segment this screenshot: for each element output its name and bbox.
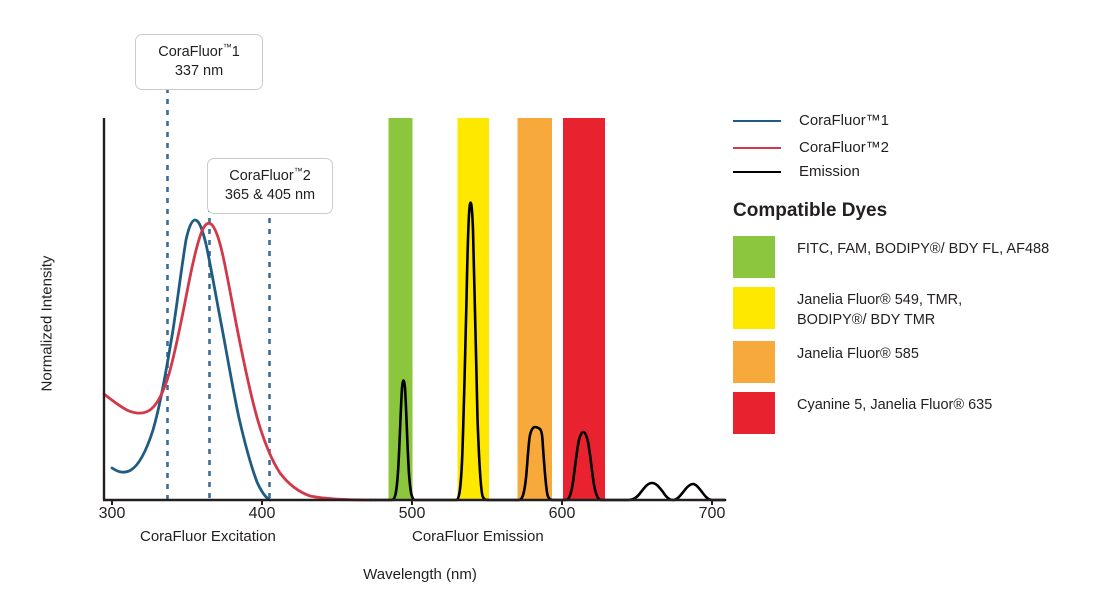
y-axis-label: Normalized Intensity [39, 244, 56, 404]
legend-line-emission [733, 171, 781, 173]
corafluor1-callout-line1: CoraFluor™1 [158, 44, 240, 60]
corafluor1-callout-line2: 337 nm [146, 62, 252, 81]
legend-label-corafluor1: CoraFluor™1 [799, 112, 889, 129]
dye-label-yellow: Janelia Fluor® 549, TMR, BODIPY®/ BDY TM… [797, 287, 962, 330]
dye-swatch-orange [733, 341, 775, 383]
legend-item-emission: Emission [733, 163, 860, 180]
dye-item-green: FITC, FAM, BODIPY®/ BDY FL, AF488 [733, 236, 1049, 278]
figure-root: 300 400 500 600 700 CoraFluor Excitation… [0, 0, 1110, 612]
corafluor1-callout: CoraFluor™1 337 nm [135, 34, 263, 90]
dye-swatch-green [733, 236, 775, 278]
emission-bands [389, 118, 606, 500]
emission-band-orange [518, 118, 553, 500]
x-tick-label-400: 400 [232, 505, 292, 523]
legend-line-corafluor2 [733, 147, 781, 149]
legend-label-emission: Emission [799, 163, 860, 180]
x-tick-label-600: 600 [532, 505, 592, 523]
legend-line-corafluor1 [733, 120, 781, 122]
x-axis-title: Wavelength (nm) [275, 566, 565, 583]
dye-swatch-red [733, 392, 775, 434]
dye-item-orange: Janelia Fluor® 585 [733, 341, 919, 383]
corafluor2-callout: CoraFluor™2 365 & 405 nm [207, 158, 333, 214]
dye-item-yellow: Janelia Fluor® 549, TMR, BODIPY®/ BDY TM… [733, 287, 962, 330]
trademark-symbol: ™ [294, 166, 303, 176]
x-section-label-emission: CoraFluor Emission [412, 528, 544, 545]
compatible-dyes-title: Compatible Dyes [733, 200, 887, 222]
x-tick-label-500: 500 [382, 505, 442, 523]
spectra-chart: 300 400 500 600 700 CoraFluor Excitation… [0, 0, 740, 612]
legend-label-corafluor2: CoraFluor™2 [799, 139, 889, 156]
x-tick-label-300: 300 [82, 505, 142, 523]
excitation-marker-lines [168, 88, 270, 500]
dye-label-green: FITC, FAM, BODIPY®/ BDY FL, AF488 [797, 236, 1049, 259]
corafluor2-callout-line2: 365 & 405 nm [218, 186, 322, 205]
x-section-label-excitation: CoraFluor Excitation [140, 528, 276, 545]
series-corafluor1-curve [112, 220, 270, 500]
series-corafluor2-curve [104, 223, 370, 500]
dye-item-red: Cyanine 5, Janelia Fluor® 635 [733, 392, 992, 434]
dye-swatch-yellow [733, 287, 775, 329]
dye-label-red: Cyanine 5, Janelia Fluor® 635 [797, 392, 992, 415]
legend-item-corafluor2: CoraFluor™2 [733, 139, 889, 156]
legend-item-corafluor1: CoraFluor™1 [733, 112, 889, 129]
legend-panel: CoraFluor™1 CoraFluor™2 Emission Compati… [728, 0, 1110, 612]
dye-label-orange: Janelia Fluor® 585 [797, 341, 919, 364]
emission-band-red [563, 118, 605, 500]
trademark-symbol: ™ [223, 42, 232, 52]
corafluor2-callout-line1: CoraFluor™2 [229, 168, 311, 184]
